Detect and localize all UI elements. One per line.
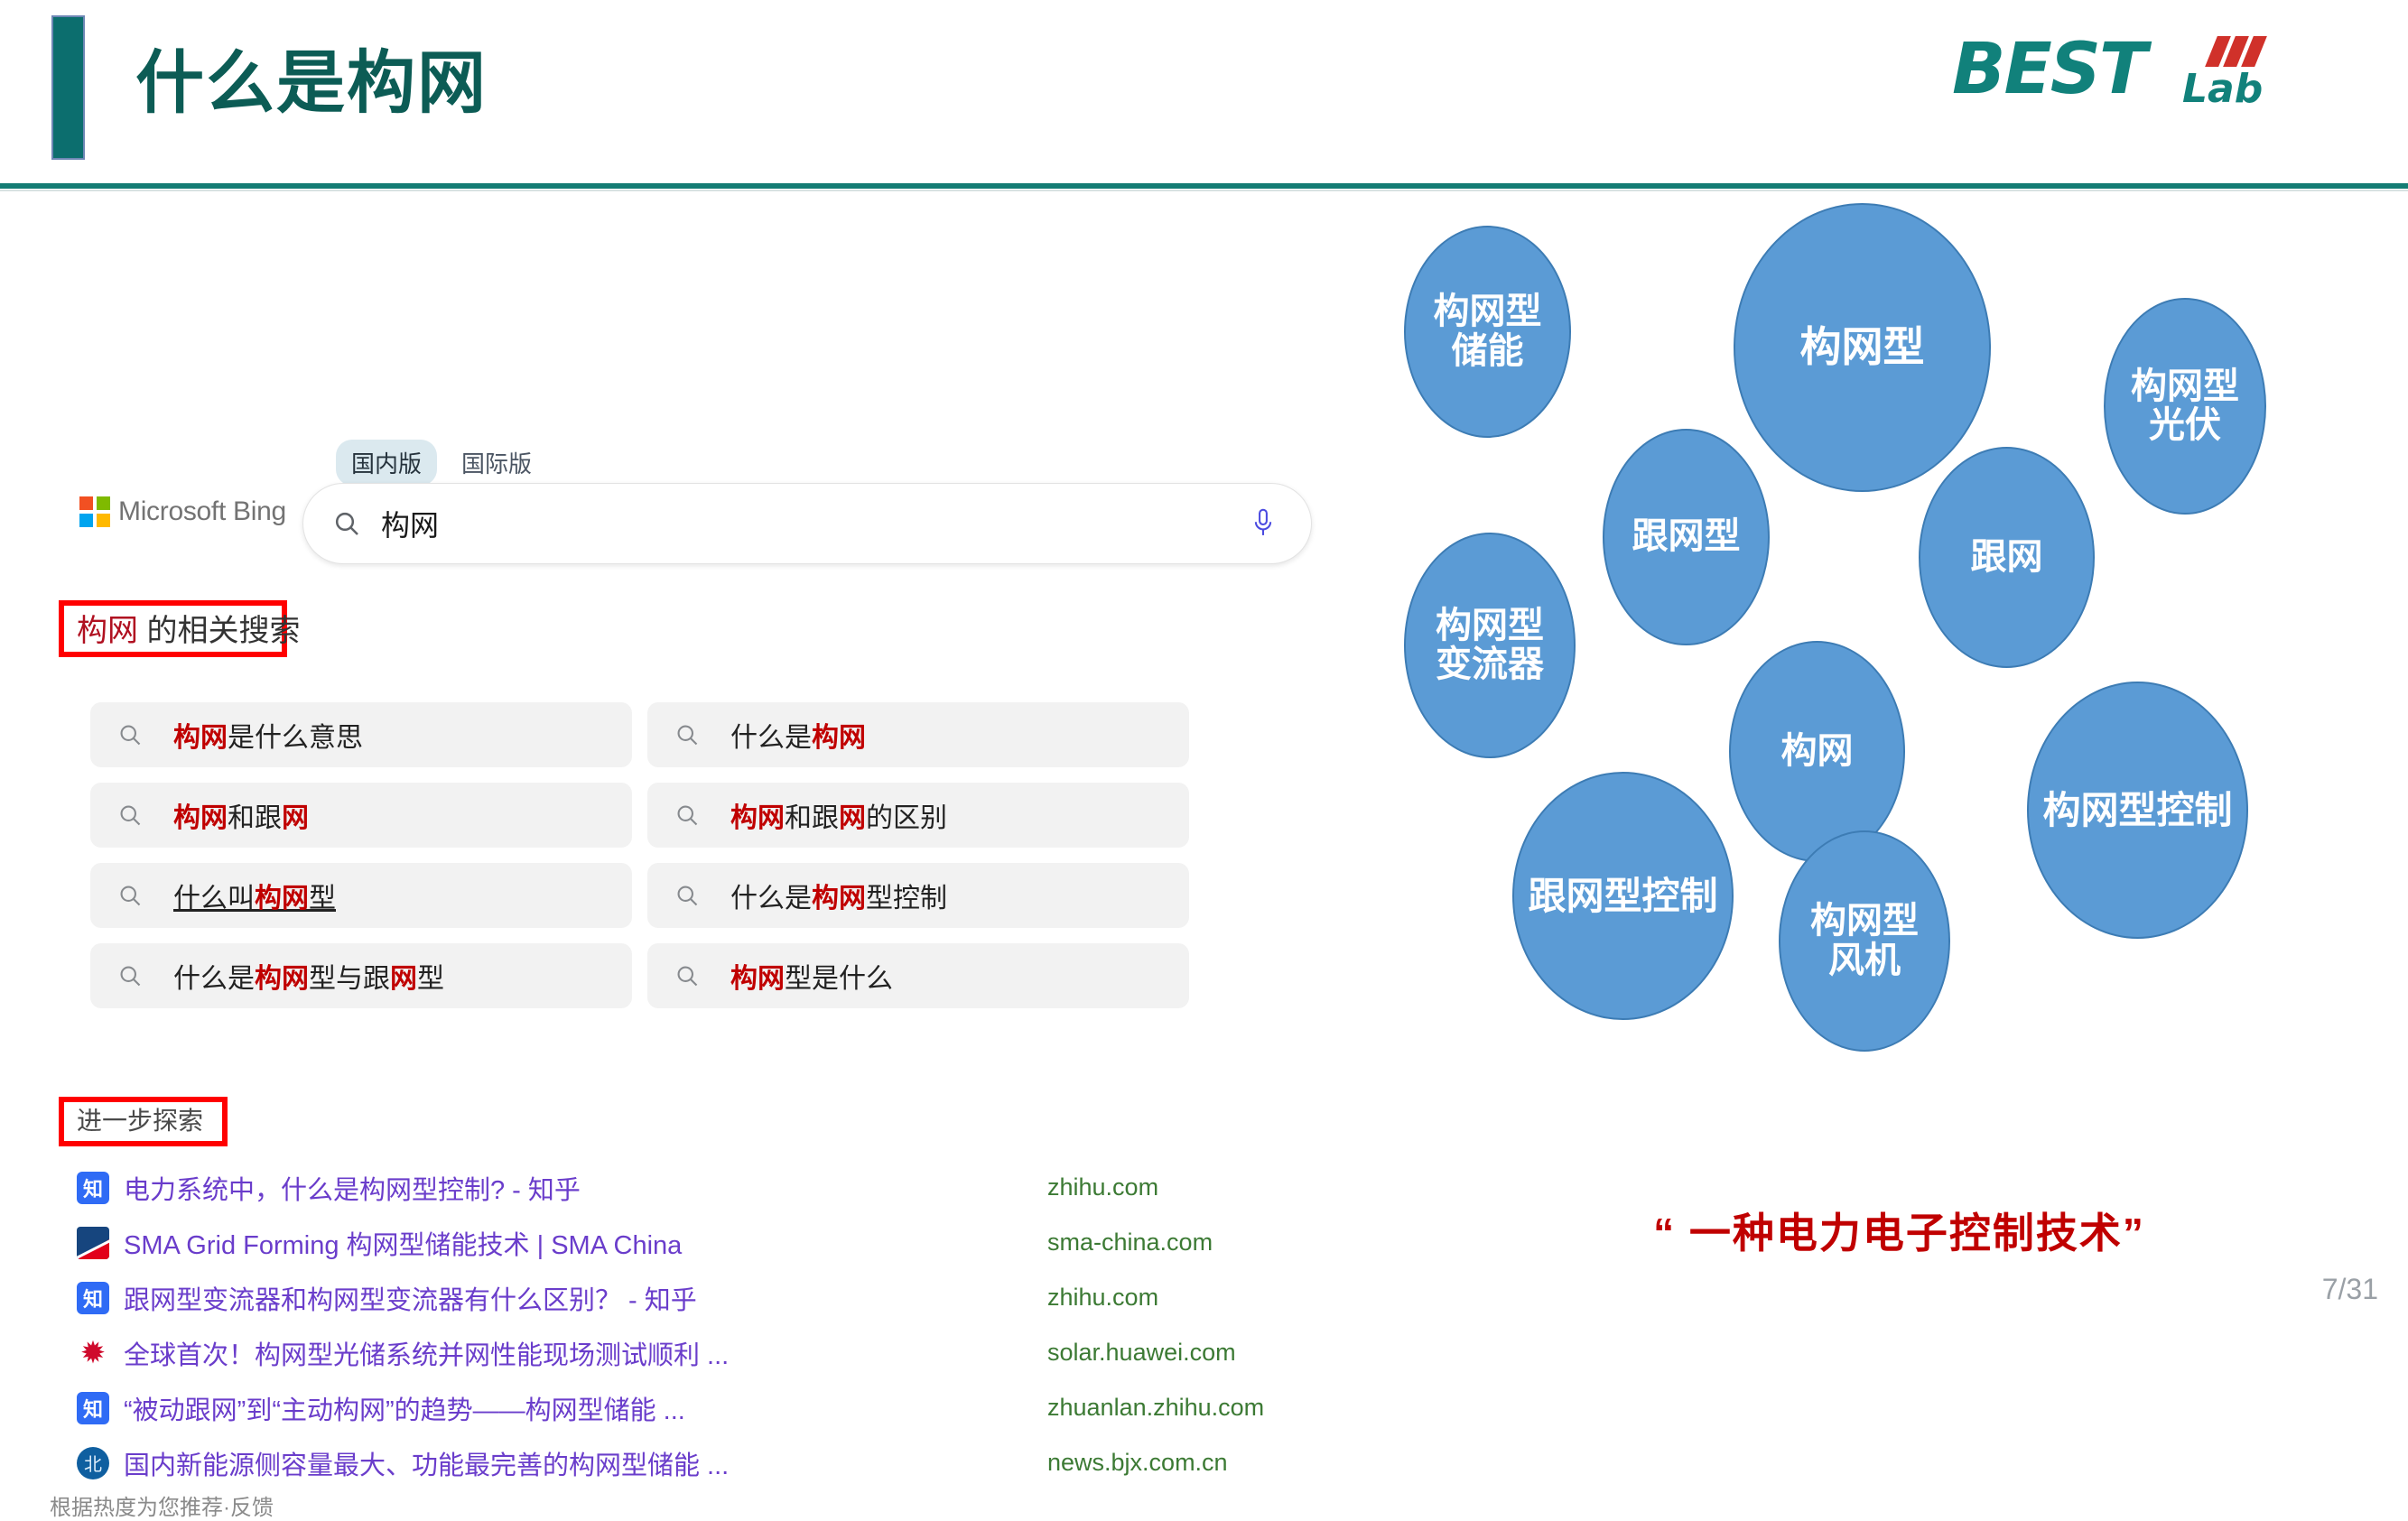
result-domain: news.bjx.com.cn bbox=[1047, 1449, 1228, 1477]
result-row[interactable]: ✹全球首次！构网型光储系统并网性能现场测试顺利 ...solar.huawei.… bbox=[77, 1325, 1359, 1380]
page-number: 7/31 bbox=[2322, 1273, 2378, 1306]
search-icon bbox=[674, 722, 700, 747]
keyword-bubble: 跟网 bbox=[1919, 447, 2095, 668]
suggestion-label: 构网是什么意思 bbox=[173, 715, 363, 755]
bubble-label: 跟网型 bbox=[1620, 517, 1753, 556]
result-title-link[interactable]: 电力系统中，什么是构网型控制? - 知乎 bbox=[124, 1169, 581, 1207]
bubble-label: 构网型变流器 bbox=[1406, 607, 1574, 684]
result-title-link[interactable]: 全球首次！构网型光储系统并网性能现场测试顺利 ... bbox=[124, 1334, 729, 1372]
suggestion-label: 什么叫构网型 bbox=[173, 876, 336, 915]
keyword-bubble: 跟网型控制 bbox=[1512, 772, 1734, 1020]
bubble-label: 构网型 bbox=[1788, 325, 1938, 370]
bubble-label: 构网型控制 bbox=[2030, 790, 2245, 830]
bing-wordmark: Microsoft Bing bbox=[118, 496, 286, 527]
header-divider bbox=[0, 183, 2408, 189]
search-icon bbox=[332, 509, 361, 538]
result-title-link[interactable]: 国内新能源侧容量最大、功能最完善的构网型储能 ... bbox=[124, 1444, 729, 1482]
zhihu-icon: 知 bbox=[77, 1172, 109, 1204]
header-divider-secondary bbox=[0, 190, 2408, 191]
bestlab-logo: BEST Lab bbox=[1952, 31, 2268, 130]
bjx-icon: 北 bbox=[77, 1447, 109, 1479]
suggestion-row: 什么叫构网型什么是构网型控制 bbox=[90, 863, 1201, 928]
keyword-bubble: 构网 bbox=[1729, 641, 1905, 862]
suggestion-row: 构网是什么意思什么是构网 bbox=[90, 702, 1201, 767]
suggestion-label: 构网和跟网 bbox=[173, 795, 309, 835]
suggestion-chip[interactable]: 构网和跟网的区别 bbox=[647, 783, 1189, 848]
result-title-link[interactable]: 跟网型变流器和构网型变流器有什么区别？ - 知乎 bbox=[124, 1279, 697, 1317]
related-search-heading: 构网 的相关搜索 bbox=[77, 614, 300, 648]
zhihu-icon: 知 bbox=[77, 1392, 109, 1424]
zhihu-icon: 知 bbox=[77, 1282, 109, 1314]
keyword-bubble: 构网型控制 bbox=[2027, 682, 2248, 939]
logo-best-text: BEST bbox=[1952, 31, 2145, 108]
result-title-link[interactable]: SMA Grid Forming 构网型储能技术 | SMA China bbox=[124, 1224, 682, 1262]
result-domain: zhihu.com bbox=[1047, 1173, 1158, 1201]
search-icon bbox=[674, 883, 700, 908]
keyword-bubble: 构网型光伏 bbox=[2104, 298, 2266, 515]
slide-header: 什么是构网 BEST Lab bbox=[0, 0, 2408, 188]
result-domain: sma-china.com bbox=[1047, 1229, 1213, 1257]
bubble-label: 构网型储能 bbox=[1406, 292, 1569, 370]
suggestion-row: 构网和跟网构网和跟网的区别 bbox=[90, 783, 1201, 848]
suggestion-chip[interactable]: 构网是什么意思 bbox=[90, 702, 632, 767]
microsoft-squares-icon bbox=[79, 496, 110, 527]
keyword-bubble: 构网型风机 bbox=[1779, 830, 1950, 1052]
result-row[interactable]: 知“被动跟网”到“主动构网”的趋势——构网型储能 ...zhuanlan.zhi… bbox=[77, 1380, 1359, 1435]
tab-international[interactable]: 国际版 bbox=[446, 440, 547, 486]
suggestion-label: 什么是构网型控制 bbox=[730, 876, 947, 915]
related-heading-rest: 的相关搜索 bbox=[138, 614, 300, 648]
search-icon bbox=[117, 722, 143, 747]
suggestion-chip[interactable]: 构网和跟网 bbox=[90, 783, 632, 848]
bubble-label: 构网型风机 bbox=[1780, 902, 1948, 979]
bing-region-tabs[interactable]: 国内版 国际版 bbox=[336, 440, 547, 486]
suggestion-chip[interactable]: 什么是构网型与跟网型 bbox=[90, 943, 632, 1008]
result-row[interactable]: SMA Grid Forming 构网型储能技术 | SMA Chinasma-… bbox=[77, 1215, 1359, 1270]
suggestion-chip[interactable]: 什么是构网型控制 bbox=[647, 863, 1189, 928]
logo-lab-text: Lab bbox=[2182, 67, 2263, 112]
search-icon bbox=[117, 883, 143, 908]
keyword-bubble: 构网型储能 bbox=[1404, 226, 1571, 438]
keyword-bubble: 构网型 bbox=[1734, 203, 1991, 492]
huawei-icon: ✹ bbox=[77, 1337, 109, 1369]
result-domain: solar.huawei.com bbox=[1047, 1339, 1236, 1367]
title-accent-bar bbox=[51, 15, 85, 160]
bubble-label: 构网型光伏 bbox=[2106, 367, 2264, 445]
tab-domestic[interactable]: 国内版 bbox=[336, 440, 437, 486]
search-input[interactable]: 构网 bbox=[381, 503, 439, 544]
bubble-label: 跟网 bbox=[1958, 538, 2056, 577]
explore-heading: 进一步探索 bbox=[77, 1107, 203, 1136]
suggestion-label: 构网型是什么 bbox=[730, 956, 893, 996]
search-icon bbox=[674, 802, 700, 828]
bubble-label: 构网 bbox=[1769, 732, 1866, 771]
search-icon bbox=[117, 802, 143, 828]
microsoft-bing-logo: Microsoft Bing bbox=[79, 496, 286, 527]
result-row[interactable]: 北国内新能源侧容量最大、功能最完善的构网型储能 ...news.bjx.com.… bbox=[77, 1435, 1359, 1490]
results-footer-note[interactable]: 根据热度为您推荐·反馈 bbox=[50, 1489, 274, 1521]
microphone-icon[interactable] bbox=[1251, 507, 1275, 542]
page-title: 什么是构网 bbox=[135, 34, 488, 134]
search-icon bbox=[674, 963, 700, 988]
suggestion-label: 什么是构网 bbox=[730, 715, 866, 755]
suggestion-label: 构网和跟网的区别 bbox=[730, 795, 947, 835]
bubble-label: 跟网型控制 bbox=[1515, 876, 1730, 916]
suggestion-chip-grid: 构网是什么意思什么是构网构网和跟网构网和跟网的区别什么叫构网型什么是构网型控制什… bbox=[90, 702, 1201, 1024]
suggestion-label: 什么是构网型与跟网型 bbox=[173, 956, 444, 996]
keyword-bubble: 跟网型 bbox=[1603, 429, 1770, 645]
bing-search-screenshot: Microsoft Bing 国内版 国际版 构网 构网 的相关搜索 构网是什么… bbox=[0, 203, 1390, 1354]
suggestion-chip[interactable]: 什么是构网 bbox=[647, 702, 1189, 767]
cloud-caption: “ 一种电力电子控制技术” bbox=[1390, 1201, 2408, 1260]
result-row[interactable]: 知跟网型变流器和构网型变流器有什么区别？ - 知乎zhihu.com bbox=[77, 1270, 1359, 1325]
explore-results-list: 知电力系统中，什么是构网型控制? - 知乎zhihu.comSMA Grid F… bbox=[77, 1160, 1359, 1490]
search-icon bbox=[117, 963, 143, 988]
search-box[interactable]: 构网 bbox=[302, 483, 1312, 564]
keyword-bubble: 构网型变流器 bbox=[1404, 533, 1576, 758]
suggestion-row: 什么是构网型与跟网型构网型是什么 bbox=[90, 943, 1201, 1008]
suggestion-chip[interactable]: 构网型是什么 bbox=[647, 943, 1189, 1008]
result-title-link[interactable]: “被动跟网”到“主动构网”的趋势——构网型储能 ... bbox=[124, 1389, 685, 1427]
suggestion-chip[interactable]: 什么叫构网型 bbox=[90, 863, 632, 928]
result-domain: zhihu.com bbox=[1047, 1284, 1158, 1312]
keyword-bubble-cloud: 构网型储能构网型构网型光伏跟网型跟网构网型变流器构网构网型控制跟网型控制构网型风… bbox=[1390, 203, 2408, 1354]
result-row[interactable]: 知电力系统中，什么是构网型控制? - 知乎zhihu.com bbox=[77, 1160, 1359, 1215]
sma-icon bbox=[77, 1227, 109, 1259]
related-heading-keyword: 构网 bbox=[77, 614, 138, 648]
result-domain: zhuanlan.zhihu.com bbox=[1047, 1394, 1264, 1422]
